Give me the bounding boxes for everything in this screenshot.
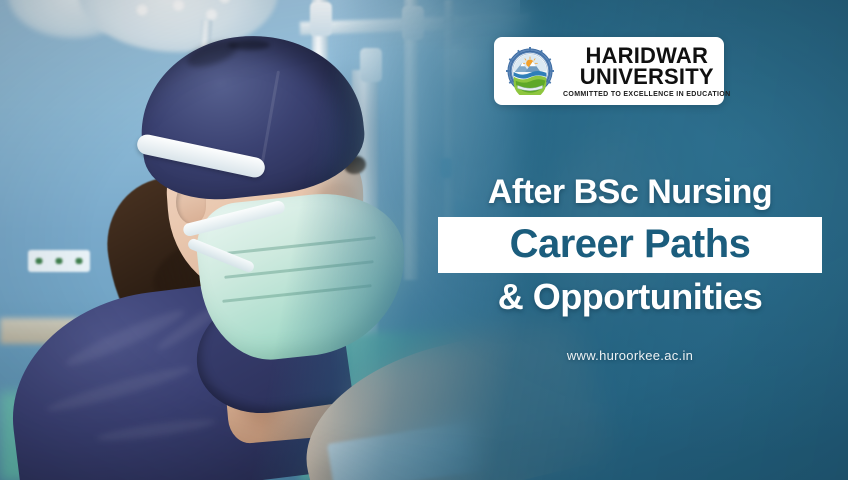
headline-block: After BSc Nursing Career Paths & Opportu… bbox=[430, 175, 830, 315]
university-name-line-2: UNIVERSITY bbox=[580, 66, 714, 87]
university-logo-text: HARIDWAR UNIVERSITY COMMITTED TO EXCELLE… bbox=[563, 45, 731, 98]
university-logo-box[interactable]: HARIDWAR UNIVERSITY COMMITTED TO EXCELLE… bbox=[494, 37, 724, 105]
promotional-banner: HARIDWAR UNIVERSITY COMMITTED TO EXCELLE… bbox=[0, 0, 848, 480]
university-tagline: COMMITTED TO EXCELLENCE IN EDUCATION bbox=[563, 91, 731, 98]
website-url[interactable]: www.huroorkee.ac.in bbox=[430, 348, 830, 363]
university-name-line-1: HARIDWAR bbox=[585, 45, 708, 66]
headline-highlight-band: Career Paths bbox=[438, 217, 822, 273]
headline-line-1: After BSc Nursing bbox=[430, 175, 830, 209]
headline-line-2: Career Paths bbox=[438, 224, 822, 264]
university-seal-icon bbox=[506, 47, 554, 95]
headline-line-3: & Opportunities bbox=[430, 279, 830, 315]
